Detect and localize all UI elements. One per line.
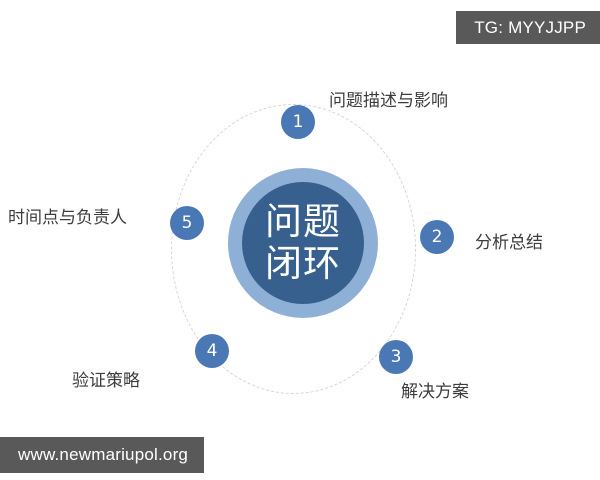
step-label-1: 问题描述与影响 — [329, 86, 448, 111]
step-label-2: 分析总结 — [475, 228, 543, 253]
website-watermark: www.newmariupol.org — [0, 437, 204, 473]
step-node-1[interactable]: 1 — [281, 105, 315, 139]
center-hub: 问题 闭环 — [242, 182, 364, 304]
step-node-2[interactable]: 2 — [420, 220, 454, 254]
step-label-3: 解决方案 — [401, 377, 469, 402]
center-hub-line-1: 问题 — [265, 201, 341, 243]
step-label-4: 验证策略 — [72, 366, 140, 391]
step-node-3[interactable]: 3 — [379, 340, 413, 374]
step-node-5[interactable]: 5 — [170, 206, 204, 240]
step-node-4[interactable]: 4 — [195, 334, 229, 368]
diagram-canvas: 问题 闭环 1 2 3 4 5 问题描述与影响 分析总结 解决方案 验证策略 时… — [0, 0, 600, 480]
step-label-5: 时间点与负责人 — [8, 203, 127, 228]
center-hub-line-2: 闭环 — [265, 243, 341, 285]
telegram-watermark: TG: MYYJJPP — [456, 11, 600, 44]
